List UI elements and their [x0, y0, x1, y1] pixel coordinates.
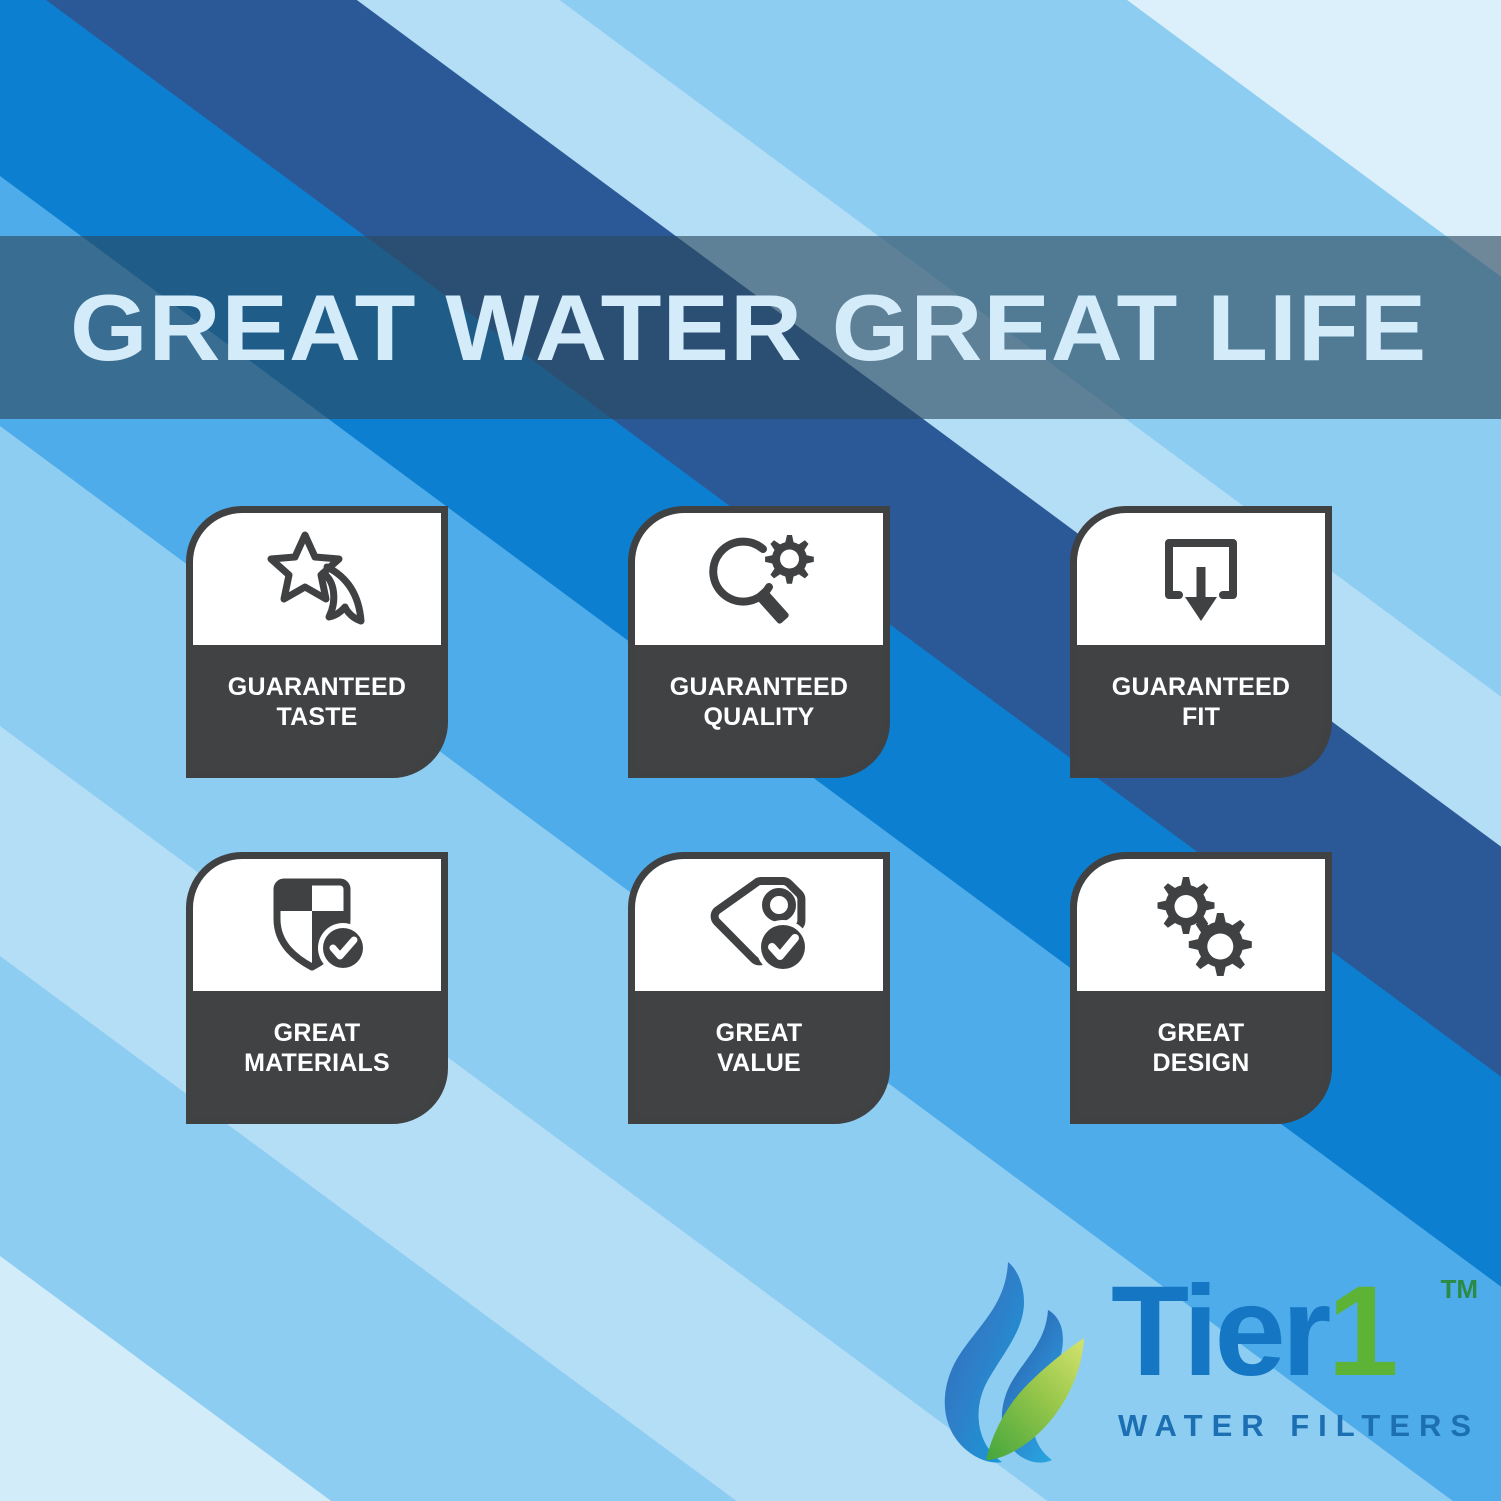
headline-banner: GREAT WATER GREAT LIFE: [0, 236, 1501, 419]
card-label-line1: GUARANTEED: [193, 673, 441, 703]
shooting-star-icon: [261, 529, 373, 629]
feature-card-guaranteed-quality[interactable]: GUARANTEED QUALITY: [628, 506, 890, 778]
card-label-line2: DESIGN: [1077, 1049, 1325, 1079]
card-label: GREAT DESIGN: [1077, 991, 1325, 1117]
card-label-line2: QUALITY: [635, 703, 883, 733]
brand-logo[interactable]: Tier1 TM WATER FILTERS: [936, 1258, 1456, 1478]
card-label: GUARANTEED TASTE: [193, 645, 441, 771]
card-label-line2: TASTE: [193, 703, 441, 733]
card-icon-panel: [635, 859, 883, 991]
card-icon-panel: [193, 513, 441, 645]
card-label-line1: GREAT: [193, 1019, 441, 1049]
card-label-line1: GREAT: [635, 1019, 883, 1049]
feature-card-guaranteed-fit[interactable]: GUARANTEED FIT: [1070, 506, 1332, 778]
feature-card-great-design[interactable]: GREAT DESIGN: [1070, 852, 1332, 1124]
card-label-line1: GUARANTEED: [1077, 673, 1325, 703]
card-icon-panel: [1077, 859, 1325, 991]
brand-wordmark: Tier1 TM: [1111, 1268, 1456, 1396]
feature-card-great-materials[interactable]: GREAT MATERIALS: [186, 852, 448, 1124]
shield-check-icon: [263, 875, 371, 975]
insert-down-arrow-icon: [1151, 529, 1251, 629]
card-label: GUARANTEED FIT: [1077, 645, 1325, 771]
card-icon-panel: [1077, 513, 1325, 645]
card-label: GREAT VALUE: [635, 991, 883, 1117]
card-label-line2: VALUE: [635, 1049, 883, 1079]
card-icon-panel: [635, 513, 883, 645]
water-drop-leaf-icon: [936, 1258, 1104, 1474]
feature-card-great-value[interactable]: GREAT VALUE: [628, 852, 890, 1124]
gears-icon: [1145, 873, 1257, 977]
card-label-line1: GUARANTEED: [635, 673, 883, 703]
card-label-line1: GREAT: [1077, 1019, 1325, 1049]
infographic-canvas: GREAT WATER GREAT LIFE: [0, 0, 1501, 1501]
trademark-symbol: TM: [1440, 1276, 1478, 1302]
card-label: GUARANTEED QUALITY: [635, 645, 883, 771]
page-title: GREAT WATER GREAT LIFE: [0, 281, 1427, 375]
feature-card-row-1: GUARANTEED TASTE: [186, 506, 1332, 778]
card-label: GREAT MATERIALS: [193, 991, 441, 1117]
magnifier-gear-icon: [703, 529, 815, 629]
brand-name: Tier: [1111, 1260, 1327, 1403]
card-icon-panel: [193, 859, 441, 991]
feature-card-guaranteed-taste[interactable]: GUARANTEED TASTE: [186, 506, 448, 778]
brand-accent-numeral: 1: [1327, 1260, 1394, 1403]
feature-card-row-2: GREAT MATERIALS: [186, 852, 1332, 1124]
brand-tagline: WATER FILTERS: [1118, 1408, 1480, 1444]
price-tag-check-icon: [703, 875, 815, 975]
card-label-line2: FIT: [1077, 703, 1325, 733]
feature-card-grid: GUARANTEED TASTE: [186, 506, 1332, 1124]
card-label-line2: MATERIALS: [193, 1049, 441, 1079]
